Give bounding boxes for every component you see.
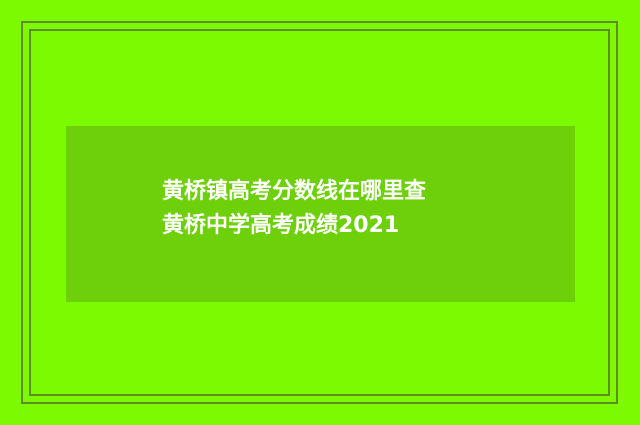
image-canvas: 黄桥镇高考分数线在哪里查 黄桥中学高考成绩2021 — [0, 0, 640, 425]
headline-line-2: 黄桥中学高考成绩2021 — [162, 209, 562, 243]
headline-block: 黄桥镇高考分数线在哪里查 黄桥中学高考成绩2021 — [162, 175, 562, 243]
content-panel: 黄桥镇高考分数线在哪里查 黄桥中学高考成绩2021 — [66, 126, 575, 302]
headline-line-1: 黄桥镇高考分数线在哪里查 — [162, 175, 562, 209]
